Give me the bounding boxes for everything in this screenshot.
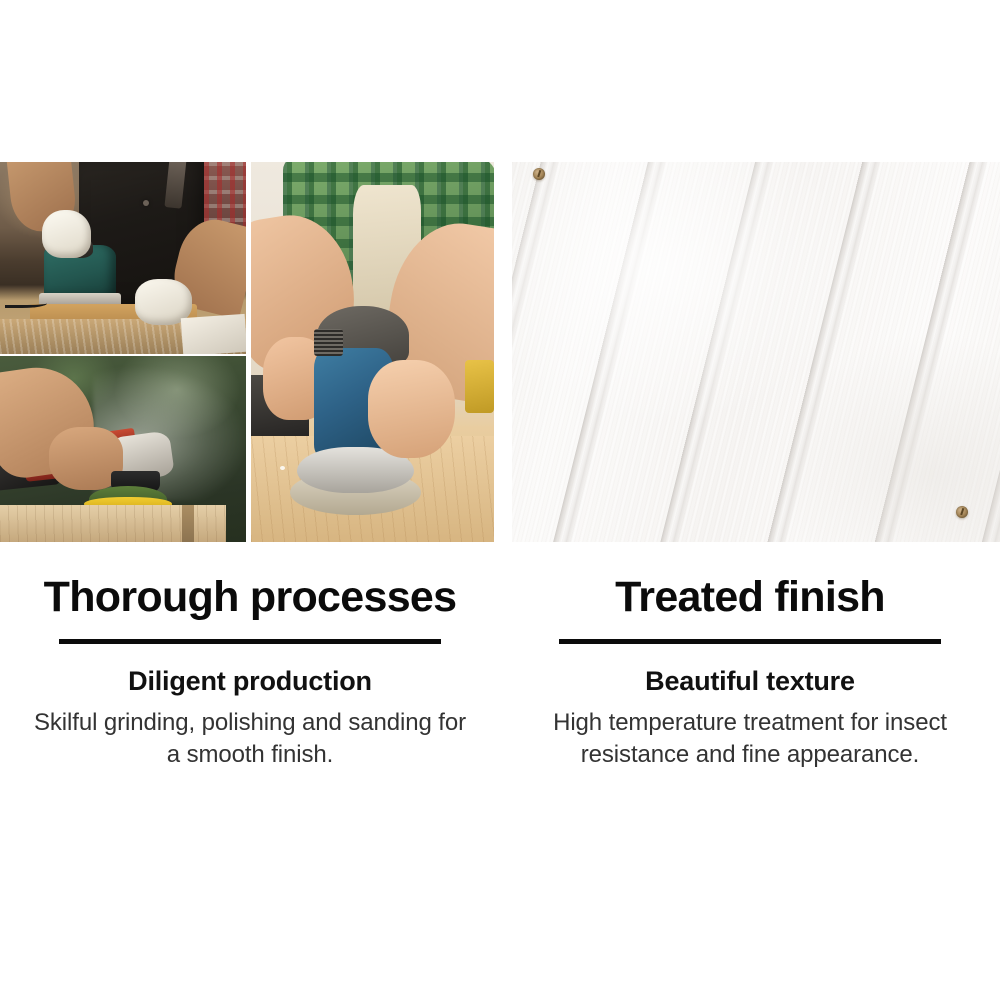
feature-block-thorough-processes: Thorough processes Diligent production S…: [0, 560, 500, 771]
sander-vent-shape: [314, 329, 343, 356]
feature-block-treated-finish: Treated finish Beautiful texture High te…: [500, 560, 1000, 771]
feature-subtitle: Diligent production: [0, 665, 500, 697]
brass-screw-icon: [956, 506, 968, 518]
feature-body-text: Skilful grinding, polishing and sanding …: [0, 707, 500, 770]
infographic-page: Thorough processes Diligent production S…: [0, 0, 1000, 1000]
heading-underline-rule: [559, 639, 941, 644]
feature-heading: Thorough processes: [0, 560, 500, 620]
surface-sheen-highlight: [512, 162, 1000, 542]
heading-underline-rule: [59, 639, 441, 644]
brass-screw-icon: [533, 168, 545, 180]
feature-subtitle: Beautiful texture: [500, 665, 1000, 697]
photo-belt-sander-workbench: [0, 162, 246, 354]
feature-media-thorough-processes: [0, 162, 494, 542]
feature-media-treated-finish: [512, 162, 1000, 542]
right-hand-shape: [368, 360, 455, 459]
yellow-object-shape: [465, 360, 494, 413]
photo-orbital-sander-pine: [251, 162, 494, 542]
feature-heading: Treated finish: [500, 560, 1000, 620]
plank-edge-shape: [182, 505, 194, 542]
sandpaper-sheet-shape: [181, 313, 246, 354]
photo-angle-grinder-polisher: [0, 356, 246, 542]
photo-band: [0, 162, 1000, 542]
collage-column: [0, 162, 246, 542]
feature-body-text: High temperature treatment for insect re…: [500, 707, 1000, 770]
left-glove-shape: [42, 210, 91, 258]
